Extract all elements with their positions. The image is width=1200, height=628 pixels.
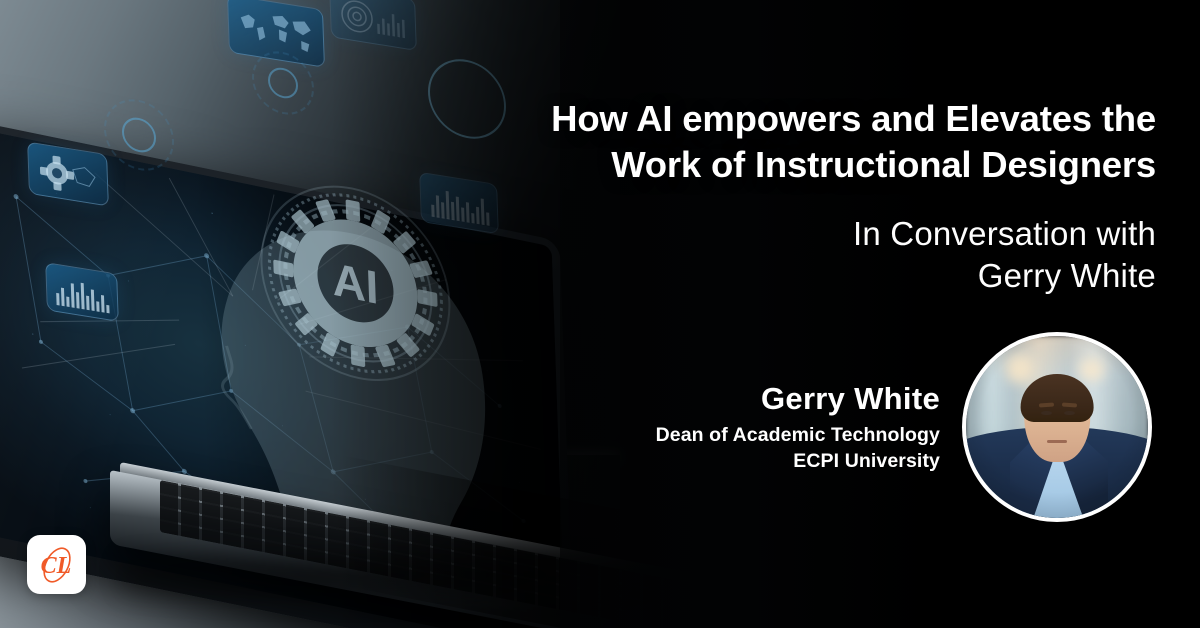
speaker-name: Gerry White: [480, 380, 940, 417]
speaker-role: Dean of Academic Technology: [480, 423, 940, 449]
title-line-2: Work of Instructional Designers: [440, 142, 1156, 188]
subtitle-line-2: Gerry White: [560, 255, 1156, 297]
cl-monogram-icon: CL: [34, 542, 80, 588]
title-line-1: How AI empowers and Elevates the: [440, 96, 1156, 142]
portrait-vignette: [966, 336, 1148, 518]
speaker-details: Gerry White Dean of Academic Technology …: [480, 380, 940, 475]
speaker-avatar: [962, 332, 1152, 522]
background-fade-right: [560, 0, 1200, 628]
world-map-icon: [234, 2, 317, 59]
page-title: How AI empowers and Elevates the Work of…: [440, 96, 1156, 188]
brand-logo[interactable]: CL: [27, 535, 86, 594]
subtitle-line-1: In Conversation with: [560, 213, 1156, 255]
speaker-organization: ECPI University: [480, 449, 940, 475]
background-photo: AI: [0, 0, 1200, 628]
subtitle: In Conversation with Gerry White: [560, 213, 1156, 297]
hud-ring-top-inner: [268, 65, 298, 101]
hud-ring-top: [252, 46, 314, 120]
webinar-banner: AI: [0, 0, 1200, 628]
world-map-card: [227, 0, 325, 68]
logo-monogram-text: CL: [40, 553, 71, 579]
